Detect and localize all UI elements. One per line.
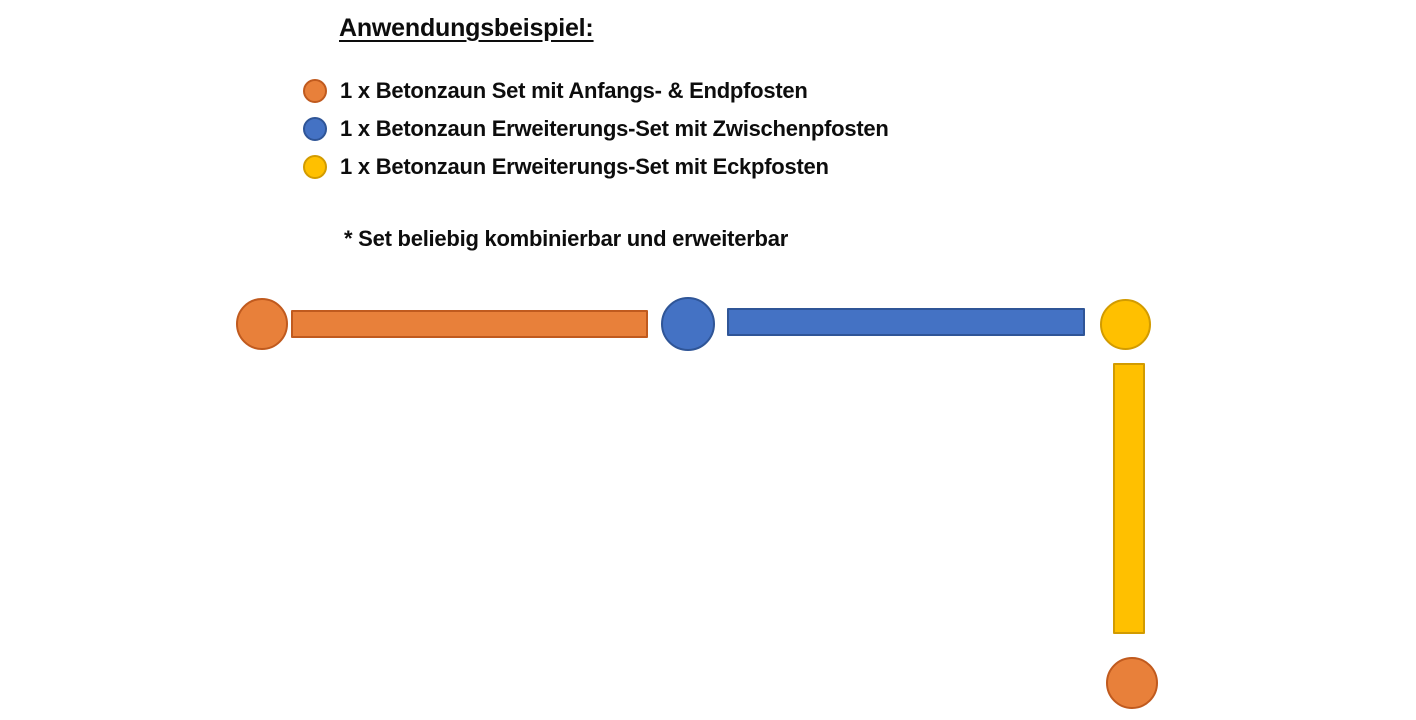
page-title: Anwendungsbeispiel: [339,14,594,43]
list-item: 1 x Betonzaun Erweiterungs-Set mit Zwisc… [303,110,889,148]
legend-list: 1 x Betonzaun Set mit Anfangs- & Endpfos… [303,72,889,186]
blue-circle-bullet-icon [303,117,327,141]
slide-canvas: Anwendungsbeispiel: 1 x Betonzaun Set mi… [0,0,1416,720]
orange-circle-bullet-icon [303,79,327,103]
end-post-orange [1106,657,1158,709]
corner-post-yellow [1100,299,1151,350]
legend-item-label: 1 x Betonzaun Erweiterungs-Set mit Eckpf… [340,154,829,180]
intermediate-post-blue [661,297,715,351]
legend-item-label: 1 x Betonzaun Set mit Anfangs- & Endpfos… [340,78,808,104]
yellow-circle-bullet-icon [303,155,327,179]
list-item: 1 x Betonzaun Set mit Anfangs- & Endpfos… [303,72,889,110]
footnote-text: * Set beliebig kombinierbar und erweiter… [344,226,788,252]
fence-panel-blue [727,308,1085,336]
start-post-orange [236,298,288,350]
fence-panel-orange [291,310,648,338]
list-item: 1 x Betonzaun Erweiterungs-Set mit Eckpf… [303,148,889,186]
fence-panel-yellow-vertical [1113,363,1145,634]
legend-item-label: 1 x Betonzaun Erweiterungs-Set mit Zwisc… [340,116,889,142]
